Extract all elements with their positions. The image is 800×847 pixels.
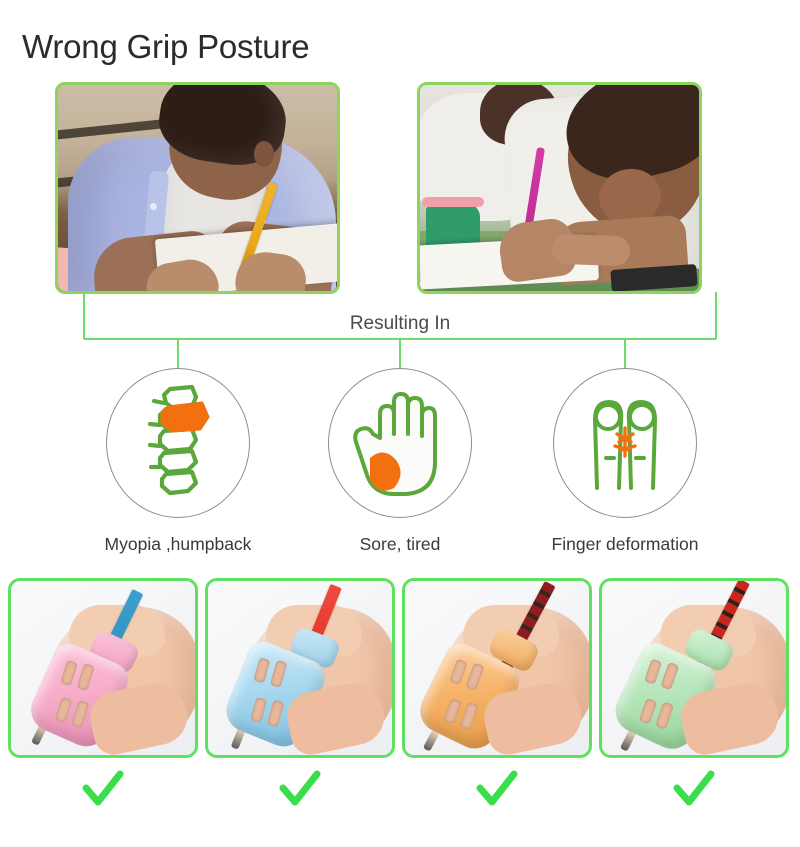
finger-hole [449,659,468,685]
product-image-content [405,581,589,755]
friction-spark [615,428,635,456]
finger-hole [443,698,462,724]
finger-hole [460,702,479,730]
product-image-content [208,581,392,755]
symptom-circle [106,368,250,518]
symptom-row: Myopia ,humpback Sore, tired [0,368,800,558]
finger-hole [465,662,484,690]
finger-deformation-icon [573,384,677,502]
check-icon [671,768,717,812]
photo-boy-writing-bent-over [55,82,340,294]
symptom-sore-tired: Sore, tired [300,368,500,555]
symptom-label: Sore, tired [300,534,500,555]
finger-hole [77,663,95,691]
check-icon [474,768,520,812]
check-mark-row [0,768,800,824]
check-mark-blue [205,768,395,817]
finger-hole [71,700,89,728]
photo-boy-writing-content [58,85,337,291]
page-title: Wrong Grip Posture [22,28,309,66]
spine-humpback-icon [130,379,226,507]
check-mark-green [599,768,789,817]
wrong-posture-photo-row [0,82,800,297]
finger-hole [250,697,267,723]
check-icon [80,768,126,812]
check-mark-pink [8,768,198,817]
product-photo-row [0,578,800,760]
sore-hand-icon [346,384,454,502]
shirt-button [150,203,157,210]
product-image-content [11,581,195,755]
finger-hole [55,697,73,723]
photo-girl-writing-content [420,85,699,291]
symptom-finger-deformation: Finger deformation [525,368,725,555]
finger-hole [267,700,285,728]
check-icon [277,768,323,812]
product-pencil-grip-blue [205,578,395,758]
symptom-label: Finger deformation [525,534,725,555]
resulting-in-label: Resulting In [0,313,800,335]
finger-hole [270,660,288,688]
child-ear [254,141,274,167]
symptom-myopia-humpback: Myopia ,humpback [78,368,278,555]
product-pencil-grip-green [599,578,789,758]
resting-fingers [552,234,631,267]
finger-hole [60,660,78,686]
spine-pain-highlight [162,403,208,431]
photo-girl-head-on-desk [417,82,702,294]
product-pencil-grip-orange [402,578,592,758]
check-mark-orange [402,768,592,817]
symptom-circle [328,368,472,518]
finger-hole [660,662,679,690]
finger-hole [655,701,674,729]
product-image-content [602,581,786,755]
symptom-circle [553,368,697,518]
finger-hole [639,698,657,724]
symptom-label: Myopia ,humpback [78,534,278,555]
finger-hole [644,658,662,684]
finger-hole [253,657,270,683]
product-pencil-grip-pink [8,578,198,758]
chair-backrest [422,197,484,207]
